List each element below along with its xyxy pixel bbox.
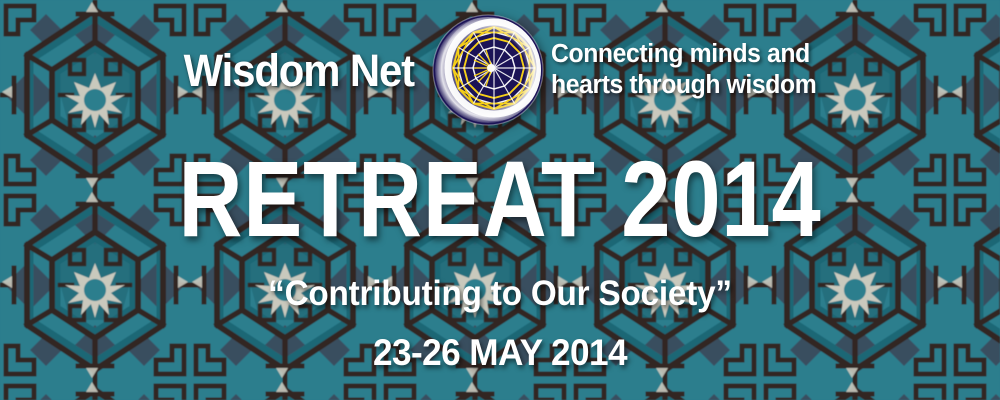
tagline-line-2: hearts through wisdom xyxy=(551,70,816,101)
brand-name: Wisdom Net xyxy=(184,48,414,93)
event-dates: 23-26 MAY 2014 xyxy=(25,334,975,371)
event-theme-subtitle: “Contributing to Our Society” xyxy=(25,276,975,311)
brand-tagline: Connecting minds and hearts through wisd… xyxy=(551,39,816,101)
tagline-line-1: Connecting minds and xyxy=(551,39,816,70)
event-banner: Wisdom Net xyxy=(0,0,1000,400)
banner-header: Wisdom Net xyxy=(0,14,1000,126)
page-title: RETREAT 2014 xyxy=(90,145,910,253)
islamic-geometric-star-circle-icon xyxy=(429,11,547,129)
